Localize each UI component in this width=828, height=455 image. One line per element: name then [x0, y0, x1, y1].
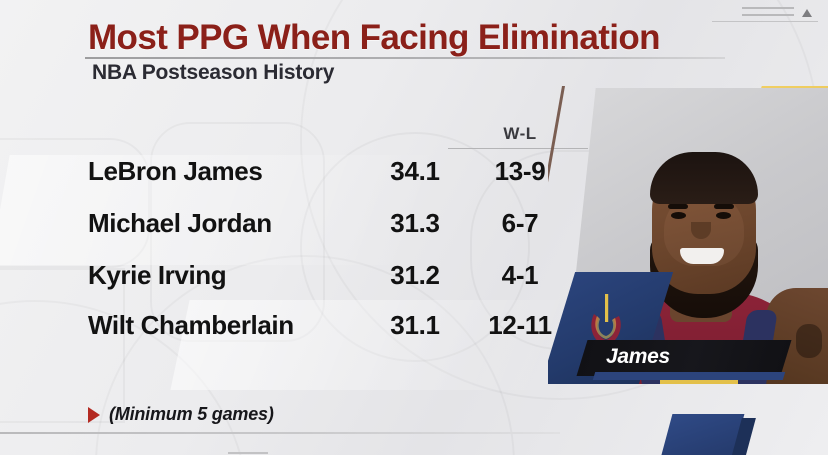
footer-tick	[228, 452, 268, 454]
table-row: Kyrie Irving 31.2 4-1	[0, 260, 600, 308]
page-subtitle: NBA Postseason History	[92, 61, 334, 85]
table-row: LeBron James 34.1 13-9	[0, 156, 600, 204]
table-row: Michael Jordan 31.3 6-7	[0, 208, 600, 256]
player-ppg: 34.1	[370, 156, 460, 187]
bottom-accent-blue	[660, 414, 745, 455]
player-ppg: 31.2	[370, 260, 460, 291]
play-triangle-icon	[88, 407, 100, 423]
footnote-text: (Minimum 5 games)	[109, 404, 274, 425]
footer-divider	[0, 432, 560, 434]
player-ppg: 31.3	[370, 208, 460, 239]
player-name: LeBron James	[88, 156, 262, 187]
player-name: Wilt Chamberlain	[88, 310, 294, 341]
player-name-label: James	[606, 345, 670, 369]
player-panel: James	[548, 0, 828, 455]
sports-graphic: Most PPG When Facing Elimination NBA Pos…	[0, 0, 828, 455]
player-name: Michael Jordan	[88, 208, 272, 239]
player-ppg: 31.1	[370, 310, 460, 341]
footnote: (Minimum 5 games)	[88, 404, 274, 425]
player-name: Kyrie Irving	[88, 260, 226, 291]
name-tag-accent	[593, 372, 785, 380]
table-row: Wilt Chamberlain 31.1 12-11	[0, 310, 600, 358]
